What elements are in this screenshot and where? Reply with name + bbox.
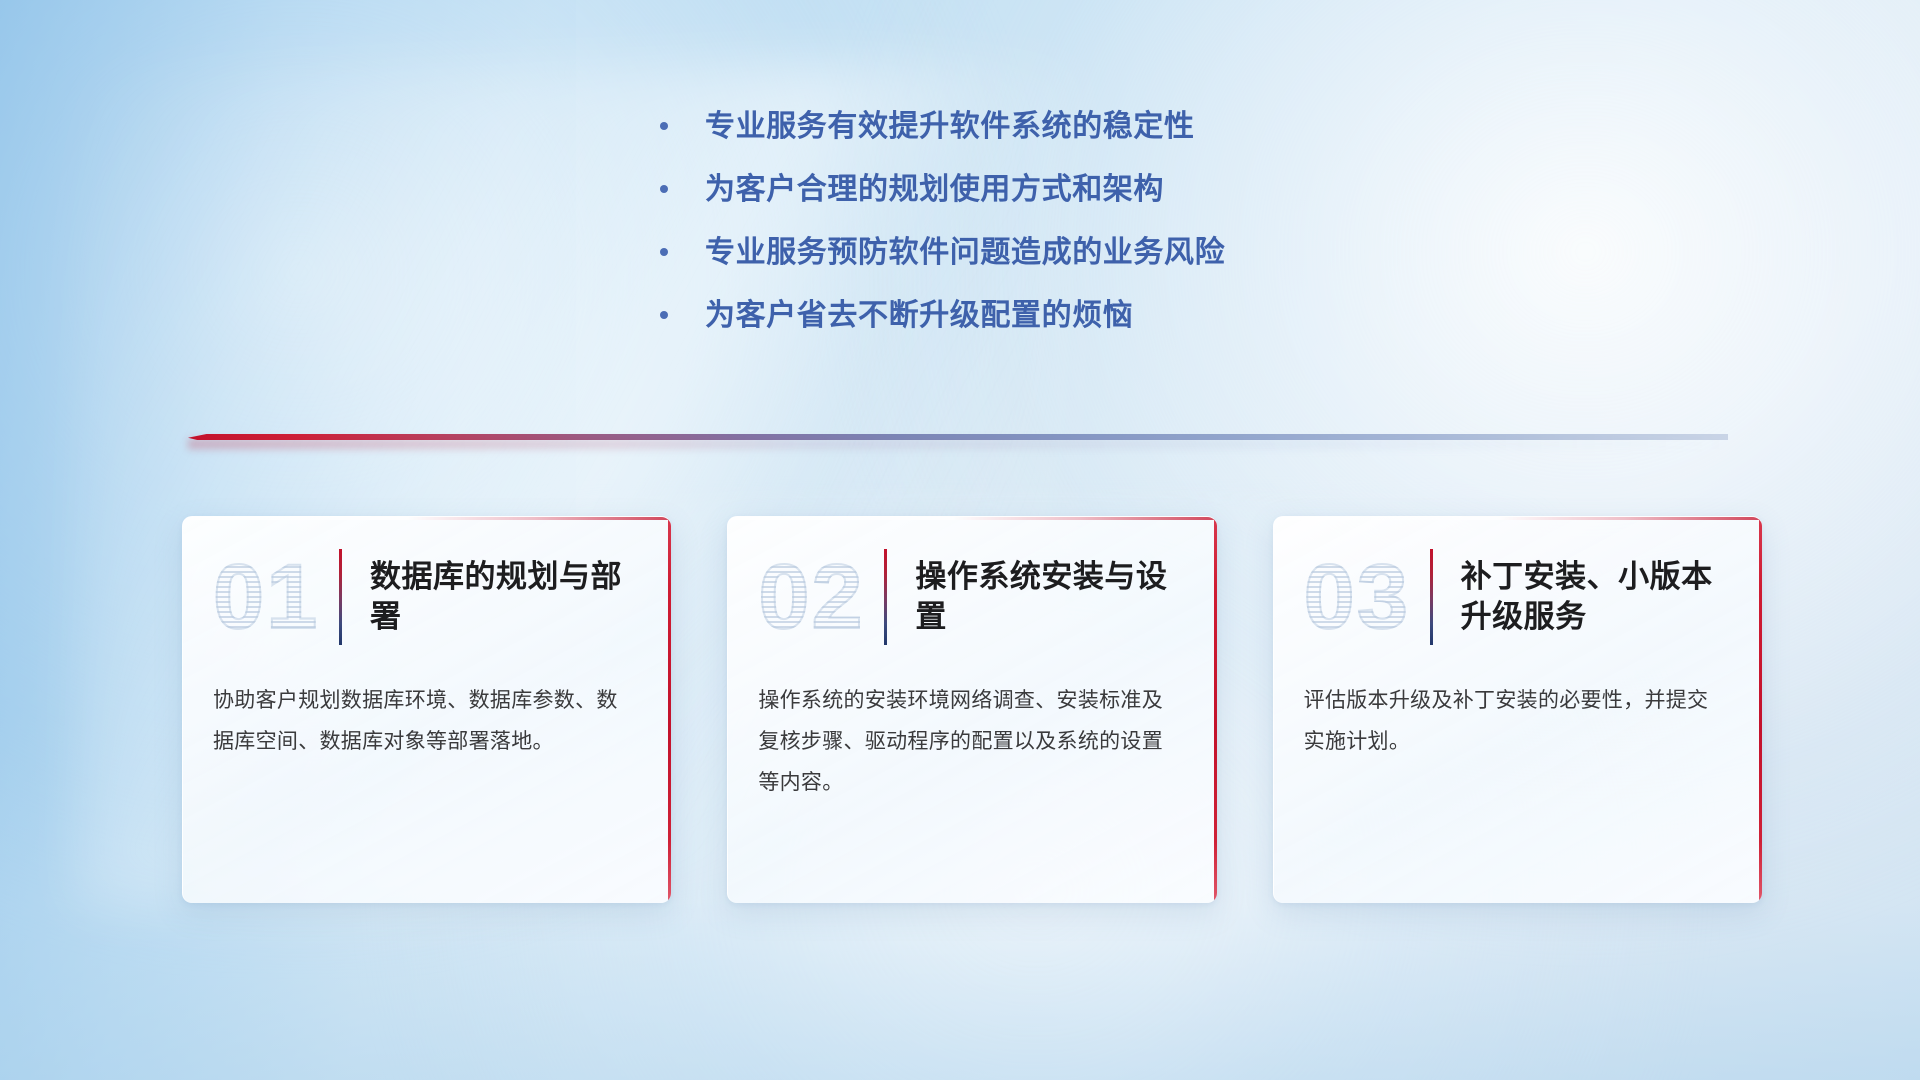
- service-card-03[interactable]: 03 补丁安装、小版本升级服务 评估版本升级及补丁安装的必要性，并提交实施计划。: [1273, 516, 1762, 903]
- list-item: 专业服务有效提升软件系统的稳定性: [660, 112, 1460, 142]
- service-card-list: 01 数据库的规划与部署 协助客户规划数据库环境、数据库参数、数据库空间、数据库…: [182, 516, 1762, 903]
- card-divider-rule: [884, 549, 887, 645]
- card-number-watermark: 01: [213, 551, 339, 643]
- card-divider-rule: [339, 549, 342, 645]
- bullet-dot-icon: [660, 311, 668, 319]
- card-title: 补丁安装、小版本升级服务: [1461, 557, 1736, 638]
- divider-glow: [188, 439, 1728, 449]
- service-card-01[interactable]: 01 数据库的规划与部署 协助客户规划数据库环境、数据库参数、数据库空间、数据库…: [182, 516, 671, 903]
- bullet-dot-icon: [660, 185, 668, 193]
- bullet-dot-icon: [660, 122, 668, 130]
- benefits-bullet-list: 专业服务有效提升软件系统的稳定性 为客户合理的规划使用方式和架构 专业服务预防软…: [660, 112, 1460, 364]
- card-number-watermark: 02: [758, 551, 884, 643]
- card-header: 02 操作系统安装与设置: [728, 517, 1216, 677]
- bullet-text: 为客户合理的规划使用方式和架构: [705, 175, 1164, 205]
- bullet-text: 专业服务有效提升软件系统的稳定性: [705, 112, 1195, 142]
- card-body-text: 评估版本升级及补丁安装的必要性，并提交实施计划。: [1274, 677, 1762, 763]
- card-body-text: 协助客户规划数据库环境、数据库参数、数据库空间、数据库对象等部署落地。: [183, 677, 671, 763]
- card-body-text: 操作系统的安装环境网络调查、安装标准及复核步骤、驱动程序的配置以及系统的设置等内…: [728, 677, 1216, 804]
- section-divider: [188, 428, 1728, 450]
- list-item: 为客户省去不断升级配置的烦恼: [660, 301, 1460, 331]
- card-title: 数据库的规划与部署: [370, 557, 645, 638]
- card-header: 03 补丁安装、小版本升级服务: [1274, 517, 1762, 677]
- list-item: 专业服务预防软件问题造成的业务风险: [660, 238, 1460, 268]
- list-item: 为客户合理的规划使用方式和架构: [660, 175, 1460, 205]
- card-header: 01 数据库的规划与部署: [183, 517, 671, 677]
- service-card-02[interactable]: 02 操作系统安装与设置 操作系统的安装环境网络调查、安装标准及复核步骤、驱动程…: [727, 516, 1216, 903]
- bullet-text: 为客户省去不断升级配置的烦恼: [705, 301, 1133, 331]
- bullet-dot-icon: [660, 248, 668, 256]
- card-title: 操作系统安装与设置: [915, 557, 1190, 638]
- card-divider-rule: [1430, 549, 1433, 645]
- card-number-watermark: 03: [1304, 551, 1430, 643]
- bullet-text: 专业服务预防软件问题造成的业务风险: [705, 238, 1225, 268]
